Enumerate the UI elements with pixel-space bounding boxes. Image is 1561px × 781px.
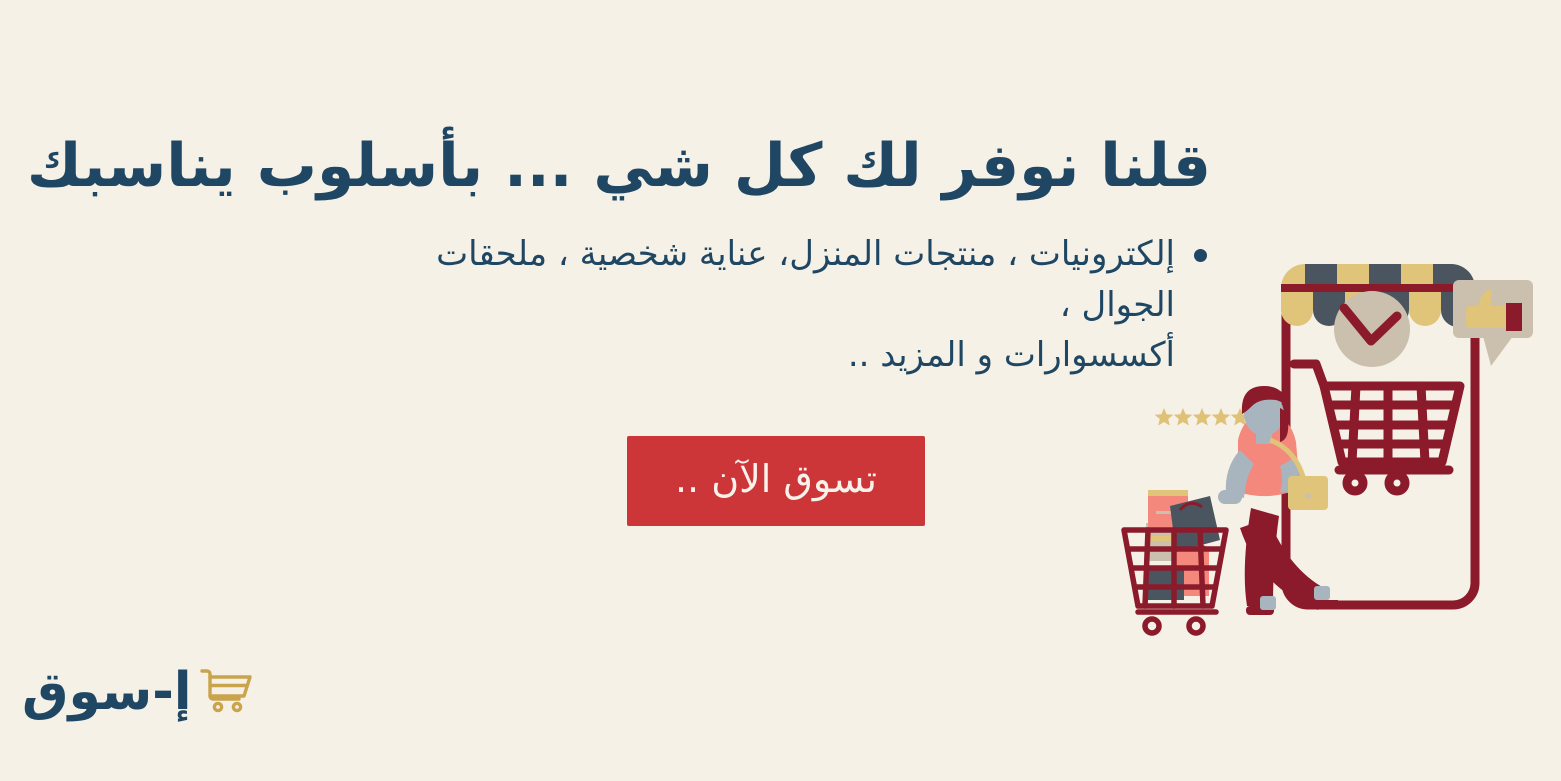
promo-banner: قلنا نوفر لك كل شي ... بأسلوب يناسبك ! إ… (0, 0, 1561, 781)
clock-icon (1334, 291, 1410, 367)
feature-list: إلكترونيات ، منتجات المنزل، عناية شخصية … (341, 229, 1211, 380)
copy-block: قلنا نوفر لك كل شي ... بأسلوب يناسبك ! إ… (341, 130, 1211, 526)
feature-line-1: إلكترونيات ، منتجات المنزل، عناية شخصية … (436, 234, 1175, 324)
brand-logo[interactable]: إ-سوق (22, 665, 256, 719)
hero-illustration (1118, 218, 1561, 648)
logo-text: إ-سوق (22, 666, 192, 718)
shopping-cart-icon (198, 665, 256, 719)
thumbs-up-icon (1453, 280, 1533, 366)
loaded-cart-frame (1124, 530, 1226, 633)
list-item: إلكترونيات ، منتجات المنزل، عناية شخصية … (341, 229, 1211, 380)
large-shopping-cart-icon (1294, 364, 1460, 491)
shop-now-button[interactable]: تسوق الآن .. (627, 436, 925, 526)
cta-container: تسوق الآن .. (341, 436, 1211, 526)
loaded-cart-contents (1146, 490, 1220, 600)
page-title: قلنا نوفر لك كل شي ... بأسلوب يناسبك ! (341, 130, 1211, 203)
